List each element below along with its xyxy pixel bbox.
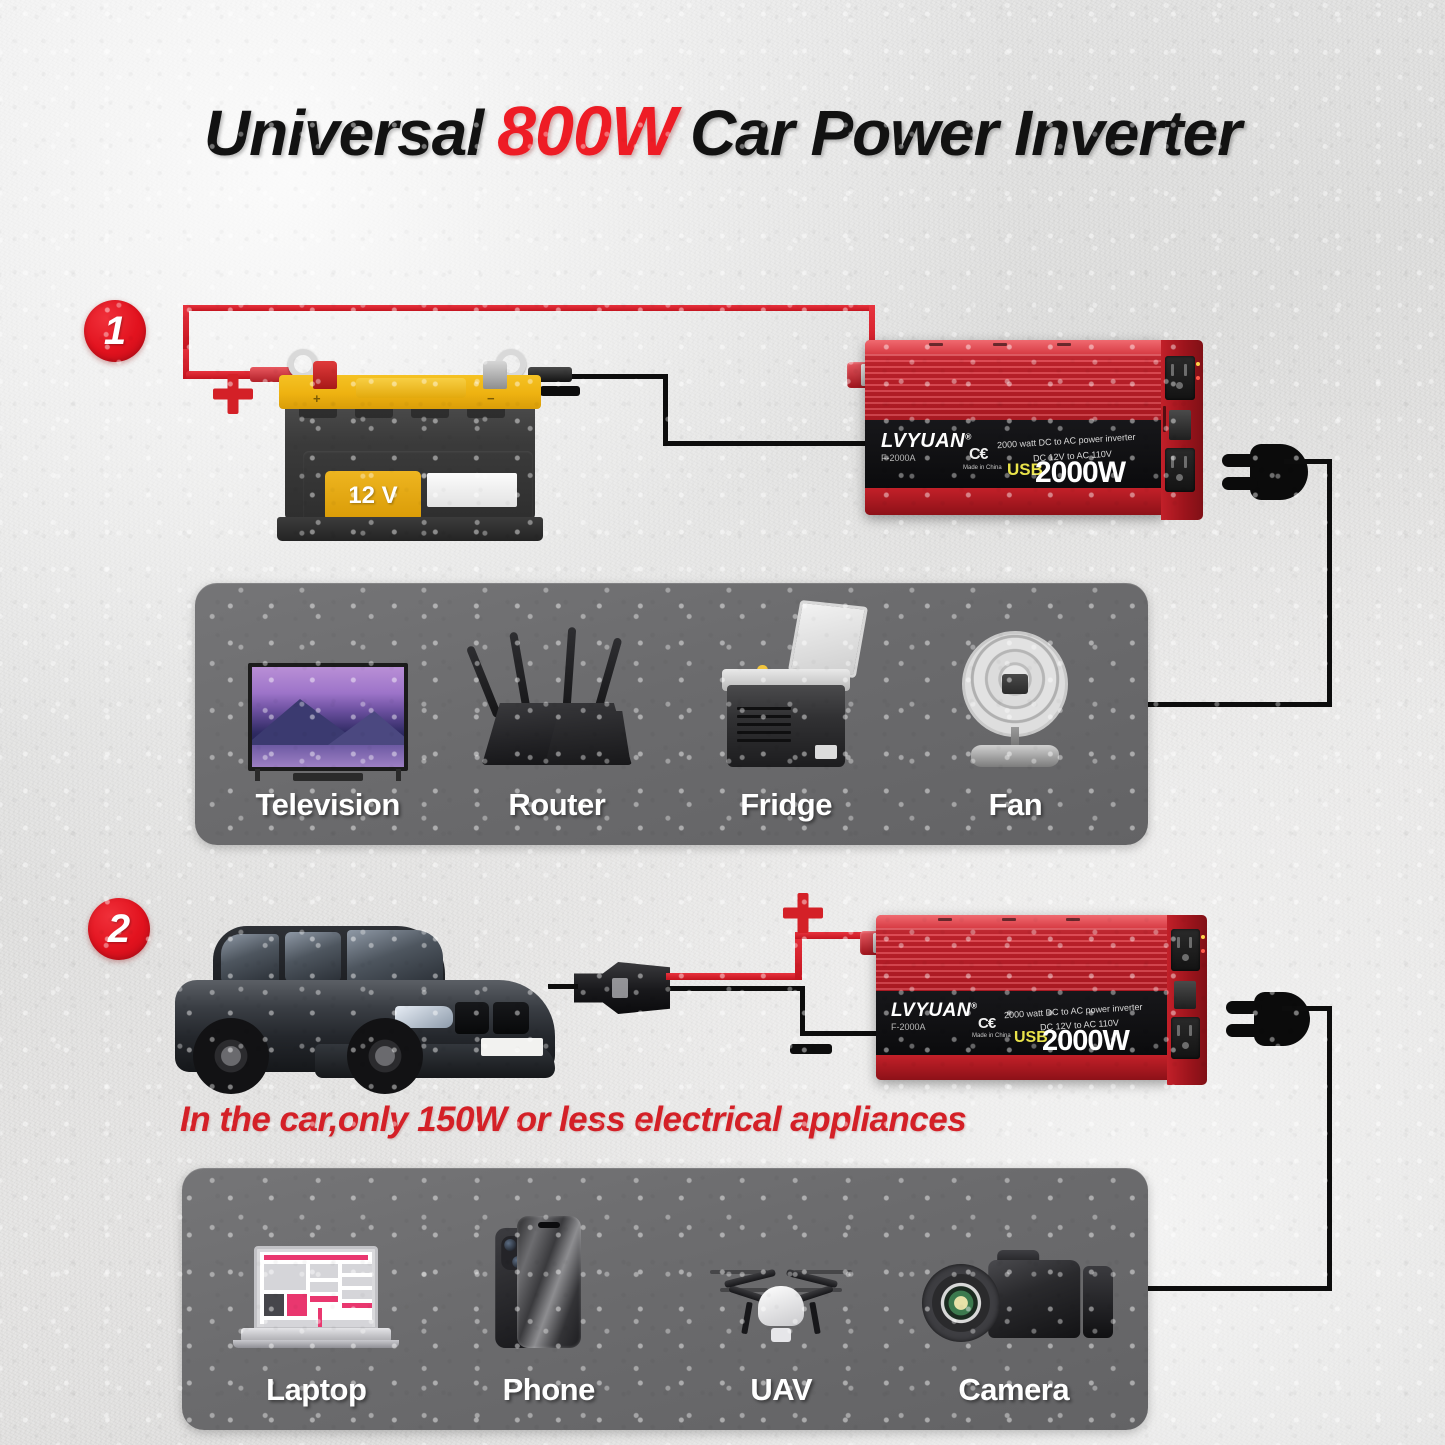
appliance-label: UAV xyxy=(750,1372,812,1408)
power-limit-warning: In the car,only 150W or less electrical … xyxy=(180,1100,966,1140)
infographic-canvas: Universal800WCar Power Inverter 1 12 V xyxy=(0,0,1445,1445)
ac-cable-vertical-2 xyxy=(1327,1006,1332,1291)
phone-icon xyxy=(454,1206,644,1356)
appliance-label: Phone xyxy=(503,1372,595,1408)
laptop-icon xyxy=(221,1206,411,1356)
appliance-laptop: Laptop xyxy=(211,1206,421,1408)
appliance-phone: Phone xyxy=(444,1206,654,1408)
appliance-camera: Camera xyxy=(909,1206,1119,1408)
drone-icon xyxy=(686,1206,876,1356)
appliance-label: Camera xyxy=(958,1372,1069,1408)
appliance-label: Laptop xyxy=(266,1372,366,1408)
camera-icon xyxy=(919,1206,1109,1356)
appliance-list-2: Laptop Phone xyxy=(182,1168,1148,1430)
appliance-uav: UAV xyxy=(676,1206,886,1408)
appliance-panel-low-power: Laptop Phone xyxy=(182,1168,1148,1430)
ac-cable-top-2 xyxy=(1282,1006,1332,1011)
ac-cable-into-panel-2 xyxy=(1146,1286,1332,1291)
